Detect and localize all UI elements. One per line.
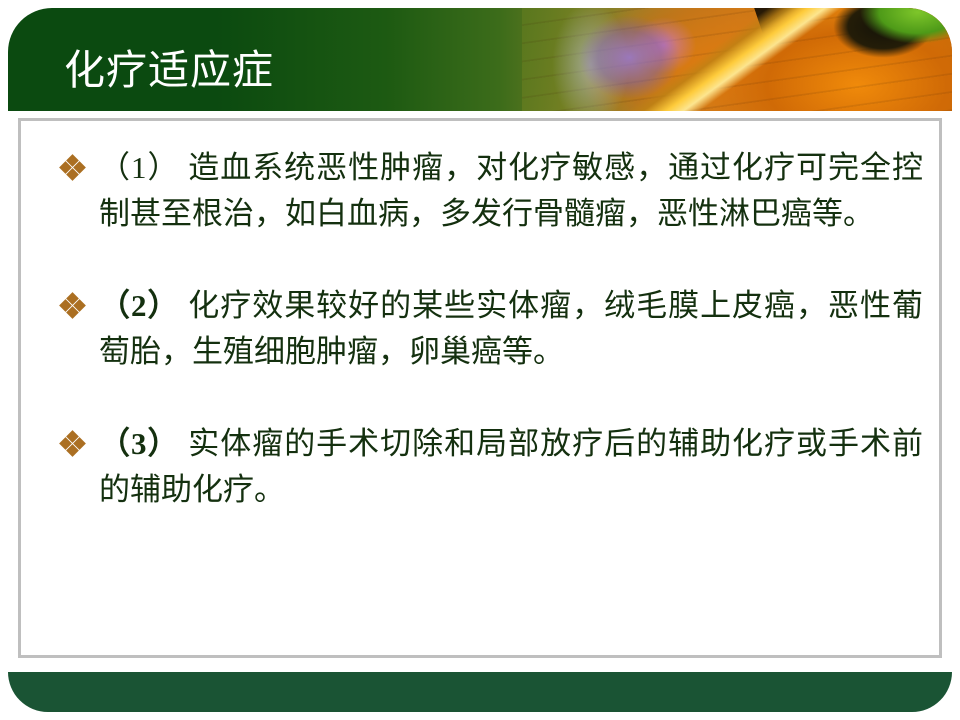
list-item: （2） 化疗效果较好的某些实体瘤，绒毛膜上皮癌，恶性葡萄胎，生殖细胞肿瘤，卵巢癌… — [61, 283, 923, 375]
list-item-text: （3） 实体瘤的手术切除和局部放疗后的辅助化疗或手术前的辅助化疗。 — [99, 421, 923, 513]
header-decorative-photo — [522, 8, 952, 111]
list-item: （3） 实体瘤的手术切除和局部放疗后的辅助化疗或手术前的辅助化疗。 — [61, 421, 923, 513]
photo-green-arc — [522, 8, 952, 111]
diamond-bullet-icon — [61, 432, 85, 456]
list-item-text: （2） 化疗效果较好的某些实体瘤，绒毛膜上皮癌，恶性葡萄胎，生殖细胞肿瘤，卵巢癌… — [99, 283, 923, 375]
slide-canvas: 化疗适应症 （1） 造血系统恶性肿瘤，对化疗敏感，通过化疗可完全控制甚至根治，如… — [0, 0, 960, 720]
content-frame: （1） 造血系统恶性肿瘤，对化疗敏感，通过化疗可完全控制甚至根治，如白血病，多发… — [18, 118, 942, 658]
slide-header-banner: 化疗适应症 — [8, 8, 952, 111]
diamond-bullet-icon — [61, 156, 85, 180]
list-item: （1） 造血系统恶性肿瘤，对化疗敏感，通过化疗可完全控制甚至根治，如白血病，多发… — [61, 145, 923, 237]
slide-footer-bar — [8, 672, 952, 712]
diamond-bullet-icon — [61, 294, 85, 318]
page-title: 化疗适应症 — [64, 46, 274, 94]
list-item-number: （3） — [99, 426, 179, 461]
list-item-number: （2） — [99, 288, 179, 323]
bullet-list: （1） 造血系统恶性肿瘤，对化疗敏感，通过化疗可完全控制甚至根治，如白血病，多发… — [61, 145, 923, 513]
list-item-text: （1） 造血系统恶性肿瘤，对化疗敏感，通过化疗可完全控制甚至根治，如白血病，多发… — [99, 145, 923, 237]
